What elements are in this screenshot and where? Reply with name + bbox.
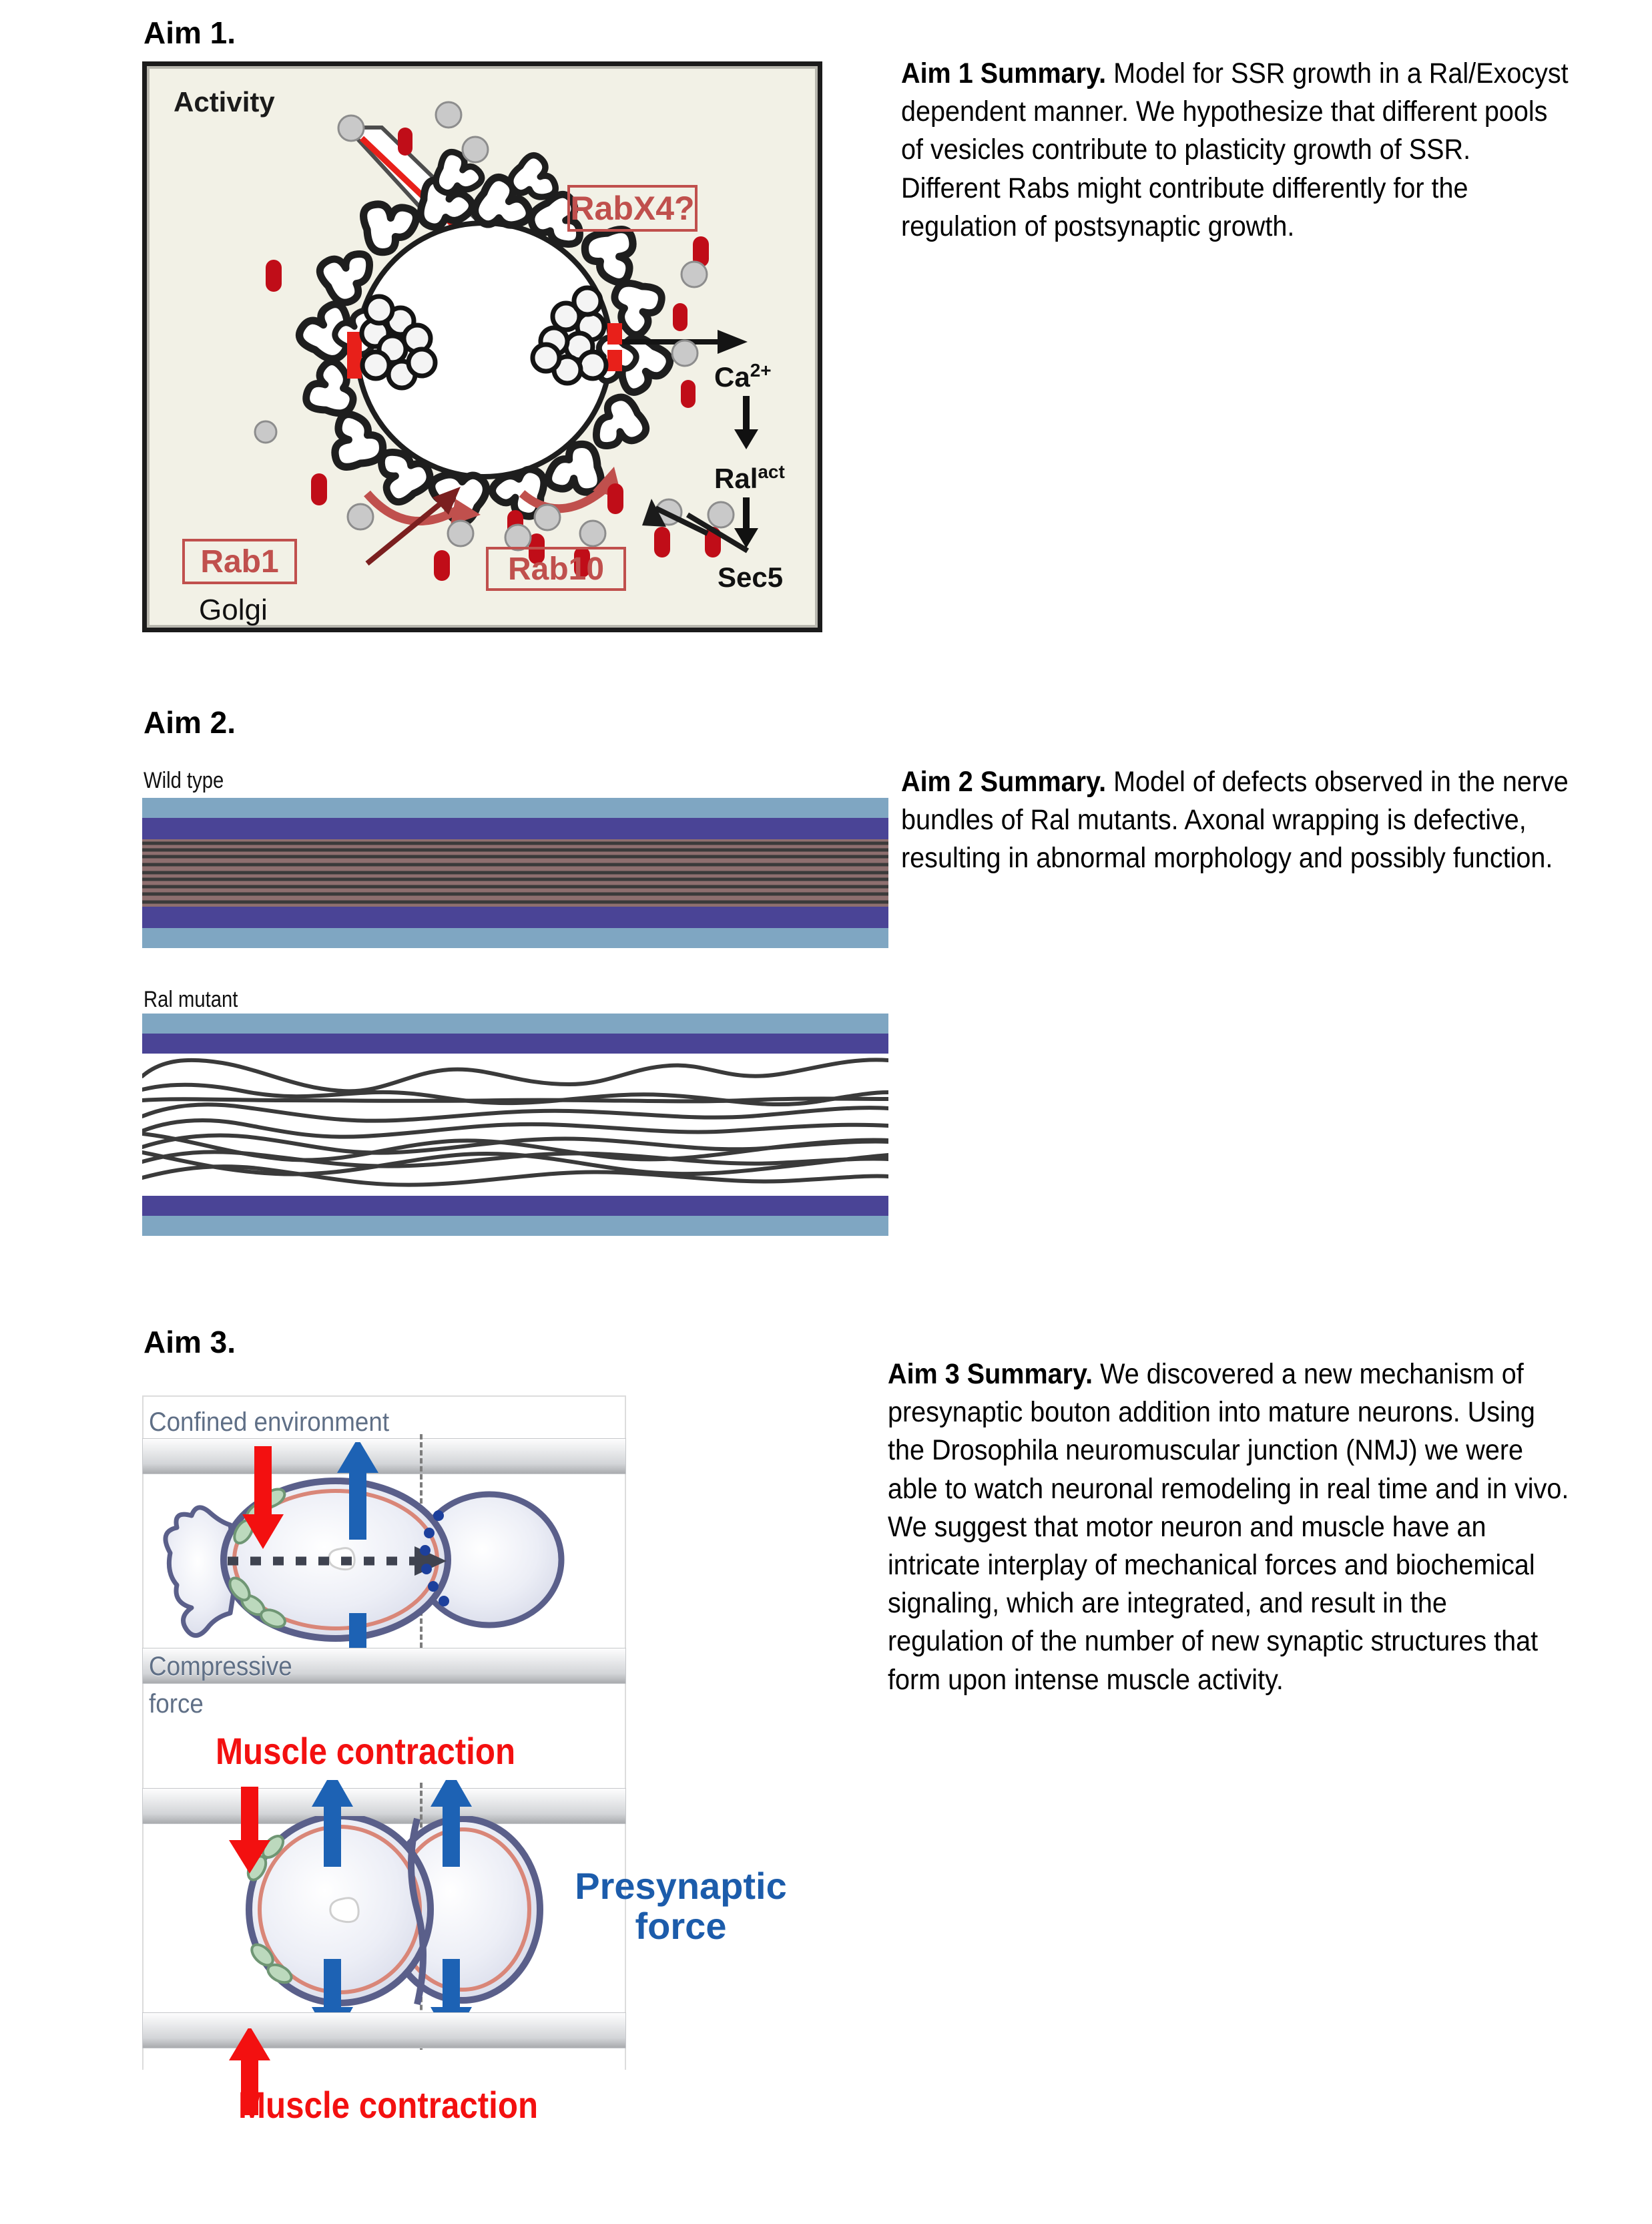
inner-sheath-top: [142, 818, 888, 839]
aim-1-summary: Aim 1 Summary. Model for SSR growth in a…: [901, 55, 1571, 246]
ral-mutant-nerve: [142, 1014, 888, 1236]
pathway-arrows-icon: [721, 393, 781, 574]
aim-3-summary-title: Aim 3 Summary.: [888, 1358, 1093, 1390]
rab10-label: Rab10: [486, 547, 626, 591]
presynaptic-force-line2: force: [547, 1906, 814, 1946]
axon-field: [142, 839, 888, 907]
outer-sheath-top: [142, 1014, 888, 1034]
aim-3-figure: Confined environment: [142, 1395, 626, 2070]
presynaptic-force-label: Presynaptic force: [547, 1866, 814, 1947]
calcium-label: Ca2+: [714, 360, 772, 393]
wild-type-nerve: [142, 798, 888, 948]
inner-sheath-top: [142, 1034, 888, 1054]
aim-2-summary-title: Aim 2 Summary.: [901, 766, 1106, 798]
muscle-contraction-label-bottom: Muscle contraction: [238, 2083, 538, 2127]
outer-sheath-bottom: [142, 1216, 888, 1236]
wild-type-label: Wild type: [144, 768, 224, 794]
aim-1-figure: Activity: [142, 61, 822, 632]
muscle-contraction-label-middle: Muscle contraction: [216, 1729, 515, 1773]
rabx4-label: RabX4?: [567, 185, 698, 232]
aim-2-heading: Aim 2.: [144, 704, 236, 740]
aim-2-summary: Aim 2 Summary. Model of defects observed…: [901, 763, 1571, 878]
frame-rule-top: [142, 1395, 626, 1397]
aim-3-summary: Aim 3 Summary. We discovered a new mecha…: [888, 1355, 1569, 1699]
presynaptic-force-line1: Presynaptic: [547, 1866, 814, 1906]
golgi-label: Golgi: [199, 594, 268, 627]
disorganized-axon-field: [142, 1054, 888, 1196]
aim-1-heading: Aim 1.: [144, 15, 236, 51]
aim-1-summary-title: Aim 1 Summary.: [901, 57, 1106, 89]
aim-3-summary-body: We discovered a new mechanism of presyna…: [888, 1358, 1569, 1696]
inner-sheath-bottom: [142, 1196, 888, 1216]
force-arrows-upper-icon: [142, 1442, 626, 1662]
inner-sheath-bottom: [142, 907, 888, 928]
confined-environment-label: Confined environment: [149, 1407, 389, 1437]
rab1-label: Rab1: [182, 539, 297, 584]
outer-sheath-top: [142, 798, 888, 818]
compressive-force-label-line1: Compressive: [149, 1652, 292, 1682]
compressive-force-label-line2: force: [149, 1689, 204, 1719]
aim-3-heading: Aim 3.: [144, 1324, 236, 1360]
ral-mutant-label: Ral mutant: [144, 987, 238, 1013]
outer-sheath-bottom: [142, 928, 888, 948]
